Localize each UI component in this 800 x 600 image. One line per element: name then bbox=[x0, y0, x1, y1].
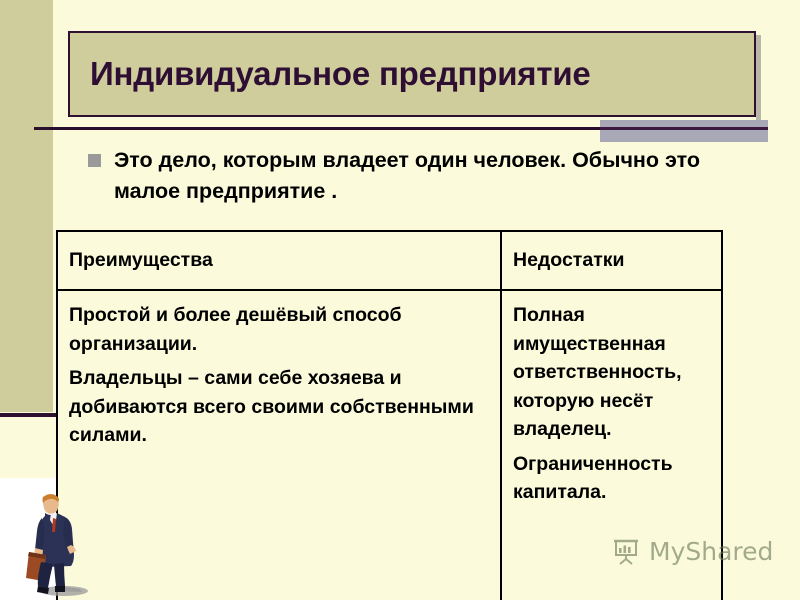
left-decor-band bbox=[0, 0, 53, 412]
table-cell-advantages: Простой и более дешёвый способ организац… bbox=[58, 291, 502, 600]
slide-canvas: Индивидуальное предприятие Это дело, кот… bbox=[0, 0, 800, 600]
table-header-disadvantages: Недостатки bbox=[502, 232, 721, 289]
slide-title-box: Индивидуальное предприятие bbox=[68, 31, 756, 117]
square-bullet-icon bbox=[88, 154, 101, 167]
disadvantage-item-2: Ограниченность капитала. bbox=[513, 450, 710, 507]
title-shadow bbox=[756, 35, 761, 121]
bullet-paragraph: Это дело, которым владеет один человек. … bbox=[88, 145, 728, 207]
disadvantage-item-1: Полная имущественная ответственность, ко… bbox=[513, 301, 710, 444]
table-header-advantages: Преимущества bbox=[58, 232, 502, 289]
page-title: Индивидуальное предприятие bbox=[70, 55, 591, 93]
advantage-item-2: Владельцы – сами себе хозяева и добивают… bbox=[69, 364, 489, 450]
left-band-rule bbox=[0, 413, 56, 417]
watermark-text: MyShared bbox=[649, 537, 773, 566]
table-header-row: Преимущества Недостатки bbox=[58, 232, 721, 291]
advantage-item-1: Простой и более дешёвый способ организац… bbox=[69, 301, 489, 358]
divider-accent-block bbox=[600, 120, 768, 142]
businessman-with-briefcase-image bbox=[18, 492, 88, 600]
divider-accent-line bbox=[600, 127, 768, 130]
presentation-board-icon bbox=[612, 536, 642, 566]
bullet-text: Это дело, которым владеет один человек. … bbox=[114, 145, 714, 207]
myshared-watermark: MyShared bbox=[612, 536, 773, 566]
